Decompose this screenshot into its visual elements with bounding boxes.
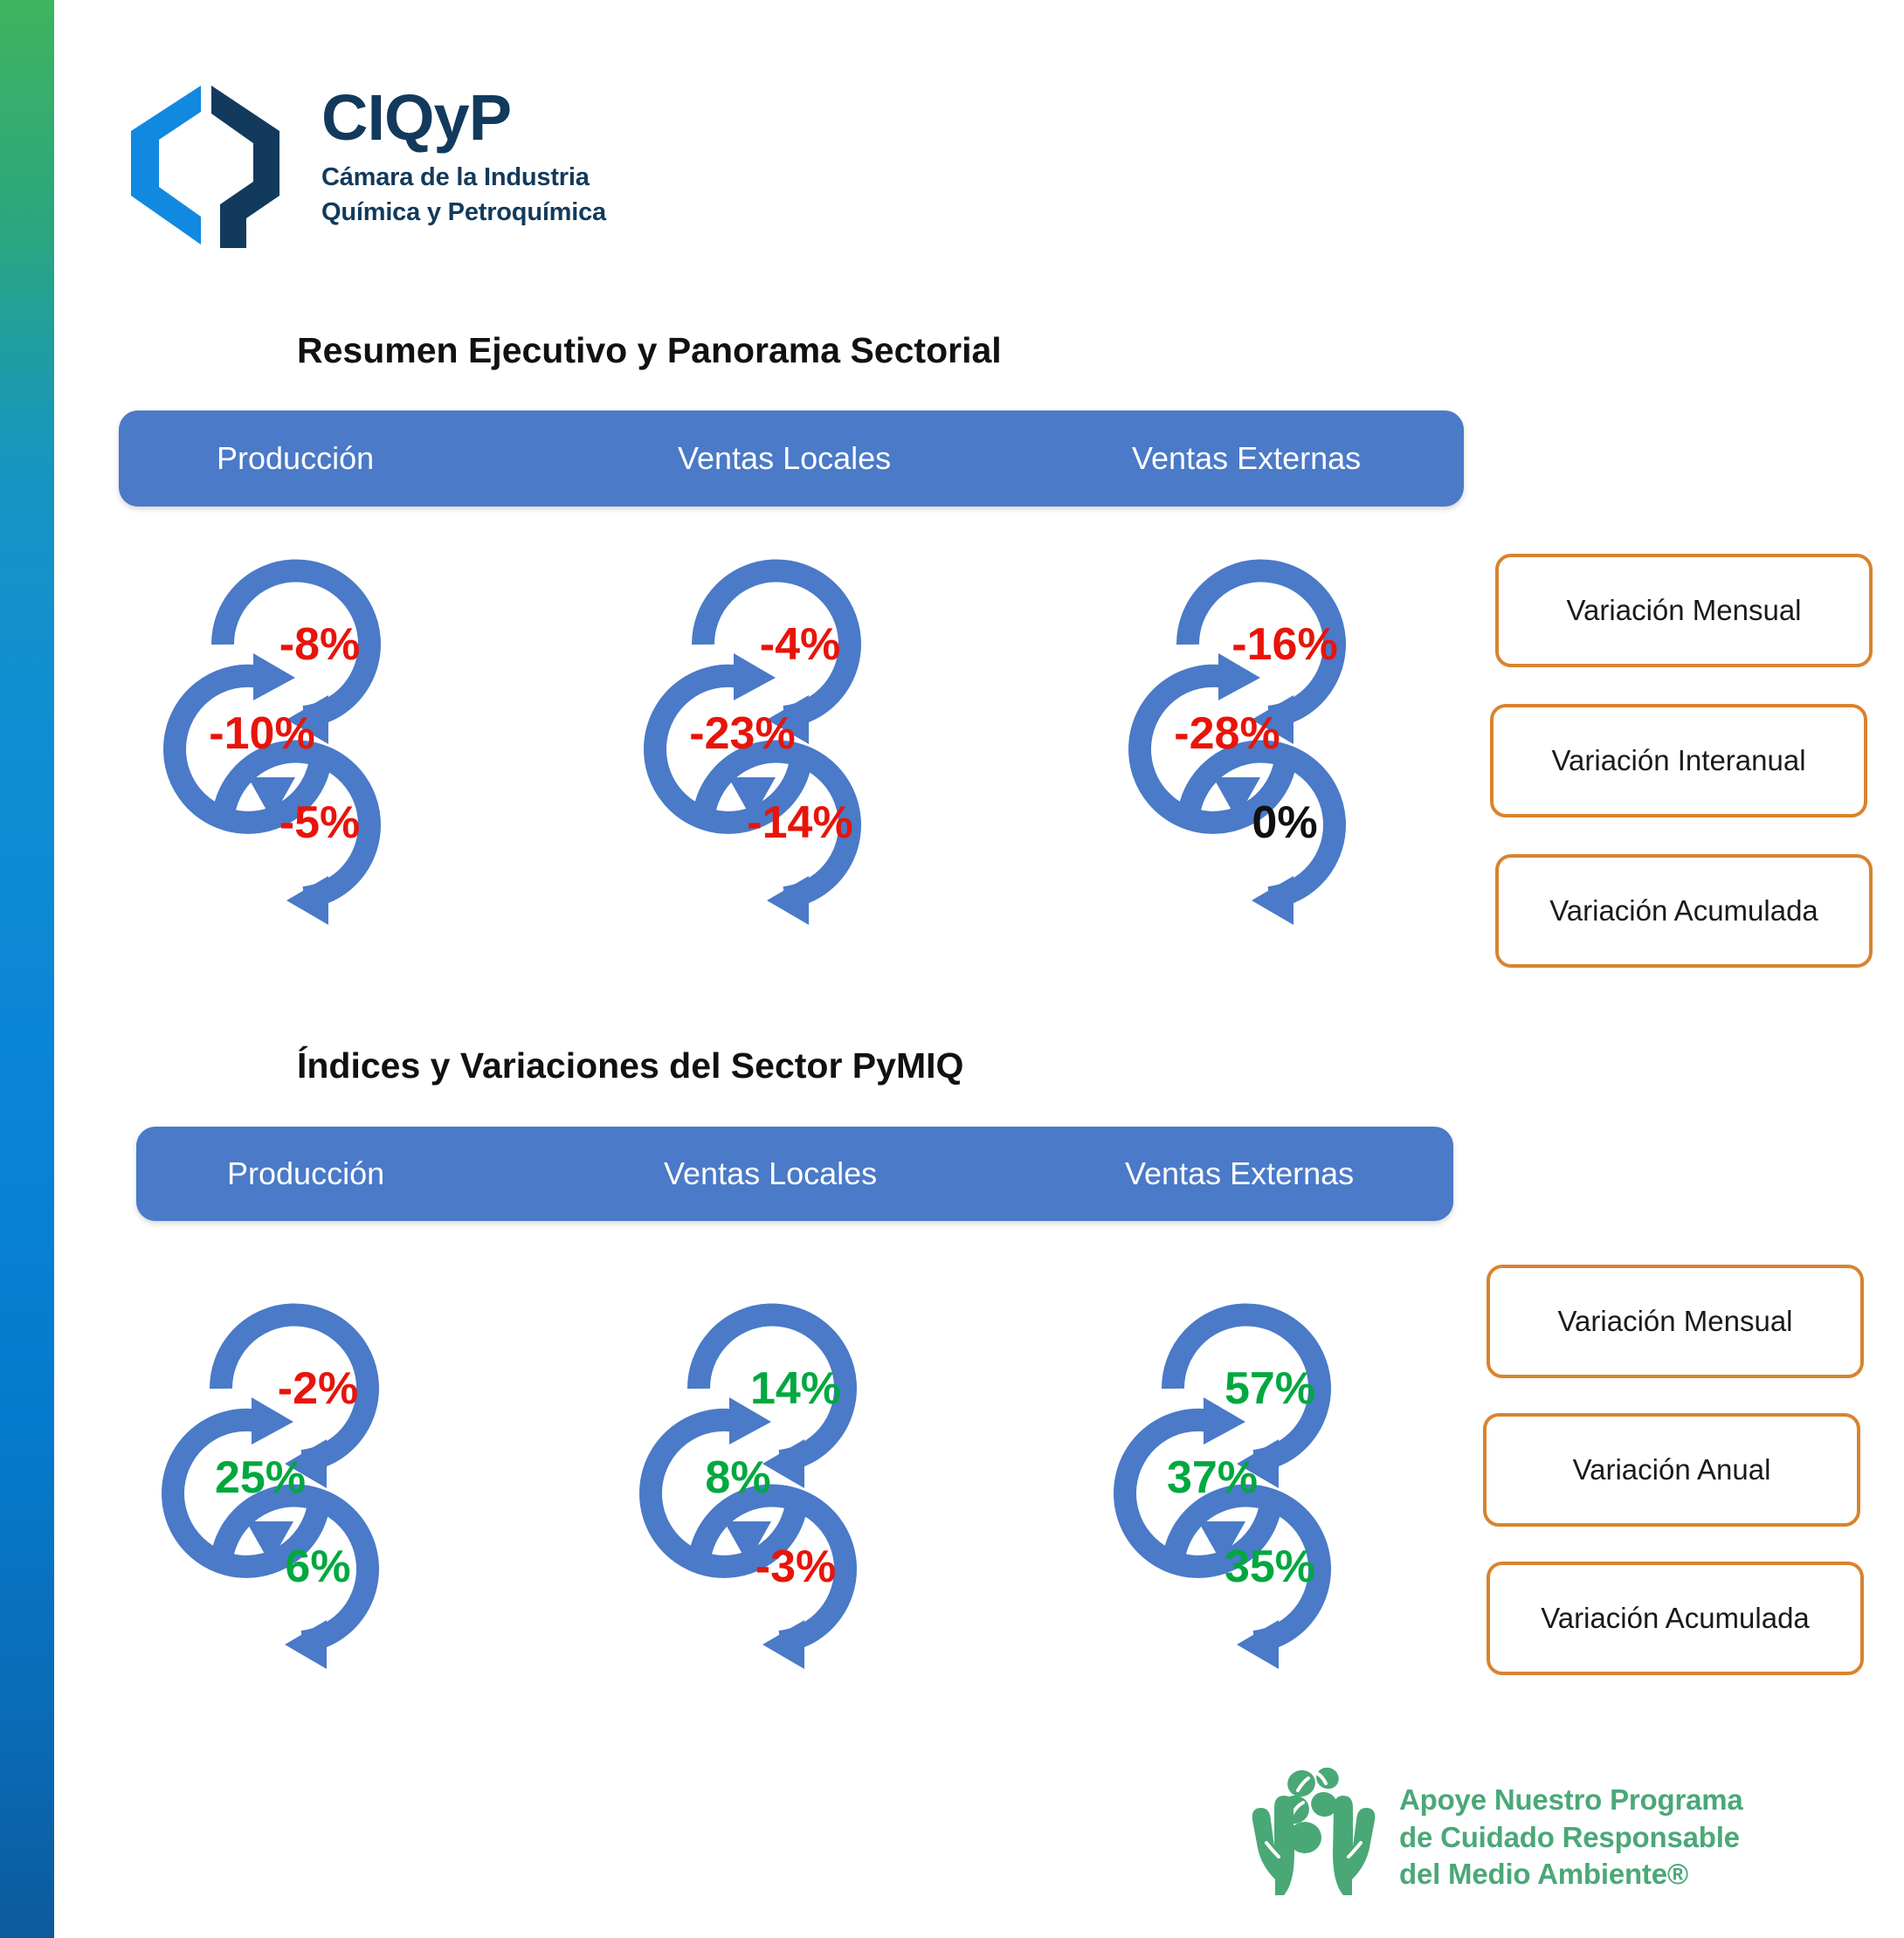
section-2-header-bar: Producción Ventas Locales Ventas Externa… bbox=[136, 1127, 1453, 1221]
value-interanual: -10% bbox=[209, 707, 314, 760]
circular-arrows-ventas-locales-2: 14% 8% -3% bbox=[633, 1259, 904, 1696]
value-mensual: -4% bbox=[760, 618, 840, 671]
legend-label: Variación Acumulada bbox=[1549, 894, 1818, 928]
logo-wordmark: CIQyP Cámara de la Industria Química y P… bbox=[321, 80, 606, 230]
value-mensual: -16% bbox=[1231, 618, 1337, 671]
responsible-care-program-logo: Apoye Nuestro Programa de Cuidado Respon… bbox=[1247, 1768, 1743, 1907]
column-header-ventas-externas-1: Ventas Externas bbox=[1132, 440, 1361, 477]
value-mensual: 57% bbox=[1224, 1362, 1315, 1415]
value-mensual: 14% bbox=[750, 1362, 841, 1415]
ciqyp-logo: CIQyP Cámara de la Industria Química y P… bbox=[124, 80, 606, 251]
section-title-1: Resumen Ejecutivo y Panorama Sectorial bbox=[297, 330, 1002, 371]
ciqyp-chevron-logo-icon bbox=[124, 80, 299, 251]
hands-with-sprouts-icon bbox=[1247, 1768, 1380, 1907]
brand-subtitle-line1: Cámara de la Industria bbox=[321, 161, 606, 194]
section-1-header-bar: Producción Ventas Locales Ventas Externa… bbox=[119, 410, 1464, 507]
program-line-1: Apoye Nuestro Programa bbox=[1399, 1782, 1743, 1819]
value-acumulada: 6% bbox=[285, 1541, 350, 1593]
legend-variacion-interanual-1: Variación Interanual bbox=[1490, 704, 1867, 817]
value-acumulada: 35% bbox=[1224, 1541, 1315, 1593]
legend-variacion-acumulada-2: Variación Acumulada bbox=[1487, 1562, 1864, 1675]
legend-label: Variación Mensual bbox=[1566, 594, 1801, 627]
brand-title: CIQyP bbox=[321, 86, 606, 150]
value-interanual: -23% bbox=[689, 707, 795, 760]
value-mensual: -2% bbox=[278, 1362, 358, 1415]
legend-variacion-mensual-2: Variación Mensual bbox=[1487, 1265, 1864, 1378]
column-header-ventas-locales-1: Ventas Locales bbox=[678, 440, 891, 477]
column-header-produccion-2: Producción bbox=[227, 1155, 384, 1192]
value-anual: 37% bbox=[1167, 1452, 1258, 1504]
legend-label: Variación Anual bbox=[1573, 1453, 1771, 1486]
circular-arrows-produccion-2: -2% 25% 6% bbox=[155, 1259, 426, 1696]
value-anual: 8% bbox=[705, 1452, 770, 1504]
value-acumulada: -5% bbox=[279, 797, 360, 849]
left-gradient-strip bbox=[0, 0, 54, 1938]
legend-label: Variación Acumulada bbox=[1541, 1602, 1810, 1635]
value-acumulada: -14% bbox=[747, 797, 852, 849]
program-text-block: Apoye Nuestro Programa de Cuidado Respon… bbox=[1399, 1782, 1743, 1894]
circular-arrows-ventas-externas-2: 57% 37% 35% bbox=[1107, 1259, 1378, 1696]
circular-arrows-ventas-locales-1: -4% -23% -14% bbox=[638, 515, 908, 952]
section-title-2: Índices y Variaciones del Sector PyMIQ bbox=[297, 1045, 963, 1086]
column-header-produccion-1: Producción bbox=[217, 440, 374, 477]
circular-arrows-produccion-1: -8% -10% -5% bbox=[157, 515, 428, 952]
value-acumulada: -3% bbox=[755, 1541, 836, 1593]
legend-label: Variación Interanual bbox=[1551, 744, 1805, 777]
legend-variacion-mensual-1: Variación Mensual bbox=[1495, 554, 1873, 667]
legend-variacion-anual-2: Variación Anual bbox=[1483, 1413, 1860, 1527]
value-interanual: -28% bbox=[1174, 707, 1280, 760]
value-acumulada: 0% bbox=[1252, 797, 1317, 849]
value-anual: 25% bbox=[215, 1452, 306, 1504]
brand-subtitle-line2: Química y Petroquímica bbox=[321, 196, 606, 229]
value-mensual: -8% bbox=[279, 618, 360, 671]
column-header-ventas-locales-2: Ventas Locales bbox=[664, 1155, 877, 1192]
legend-variacion-acumulada-1: Variación Acumulada bbox=[1495, 854, 1873, 968]
circular-arrows-ventas-externas-1: -16% -28% 0% bbox=[1122, 515, 1393, 952]
column-header-ventas-externas-2: Ventas Externas bbox=[1125, 1155, 1354, 1192]
program-line-2: de Cuidado Responsable bbox=[1399, 1819, 1743, 1857]
program-line-3: del Medio Ambiente® bbox=[1399, 1856, 1743, 1893]
legend-label: Variación Mensual bbox=[1557, 1305, 1792, 1338]
